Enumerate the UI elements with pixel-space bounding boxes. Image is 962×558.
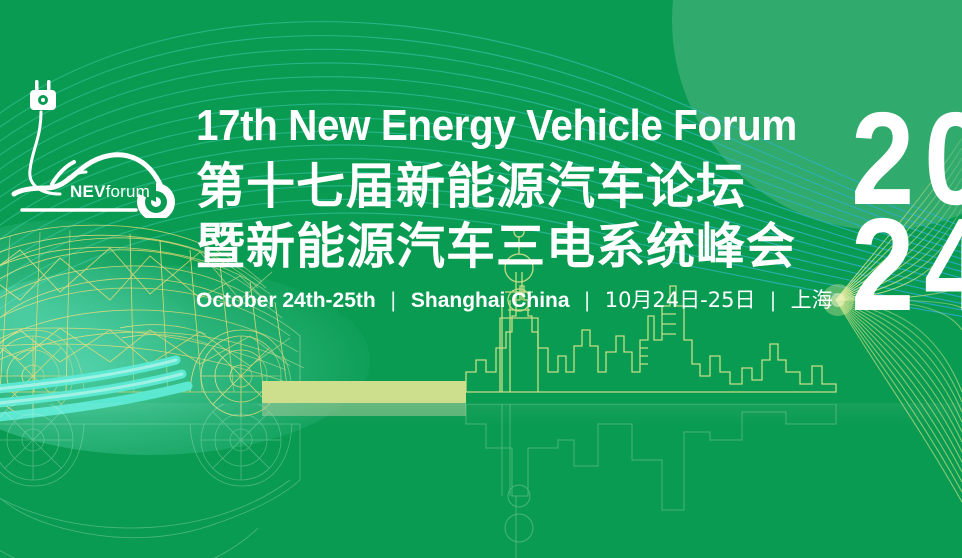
year-2024-graphic: 2 0 2 4 xyxy=(846,106,958,318)
meta-separator-2: | xyxy=(575,289,598,312)
event-poster: NEVforum 17th New Energy Vehicle Forum 第… xyxy=(0,0,962,558)
logo-wordmark: NEVforum xyxy=(70,182,150,202)
event-date-english: October 24th-25th xyxy=(196,289,376,312)
event-date-chinese: 10月24日-25日 xyxy=(605,288,756,312)
logo-wordmark-light: forum xyxy=(106,182,150,201)
meta-separator-1: | xyxy=(382,289,405,312)
event-meta-line: October 24th-25th | Shanghai China | 10月… xyxy=(196,288,836,313)
meta-separator-3: | xyxy=(761,289,784,312)
page-title-chinese-line1: 第十七届新能源汽车论坛 xyxy=(196,158,836,216)
page-title-chinese-line2: 暨新能源汽车三电系统峰会 xyxy=(196,218,836,276)
ground-reflection-band xyxy=(0,403,962,425)
year-digit-4: 4 xyxy=(925,212,962,318)
event-city-english: Shanghai China xyxy=(411,289,570,312)
charging-plug-icon xyxy=(30,80,56,110)
ground-accent-bar xyxy=(262,381,466,403)
logo-wordmark-bold: NEV xyxy=(70,182,106,201)
headline-block: 17th New Energy Vehicle Forum 第十七届新能源汽车论… xyxy=(196,104,836,313)
year-digit-3: 2 xyxy=(851,212,914,318)
event-city-chinese: 上海 xyxy=(791,288,833,312)
page-title-english: 17th New Energy Vehicle Forum xyxy=(196,104,785,148)
